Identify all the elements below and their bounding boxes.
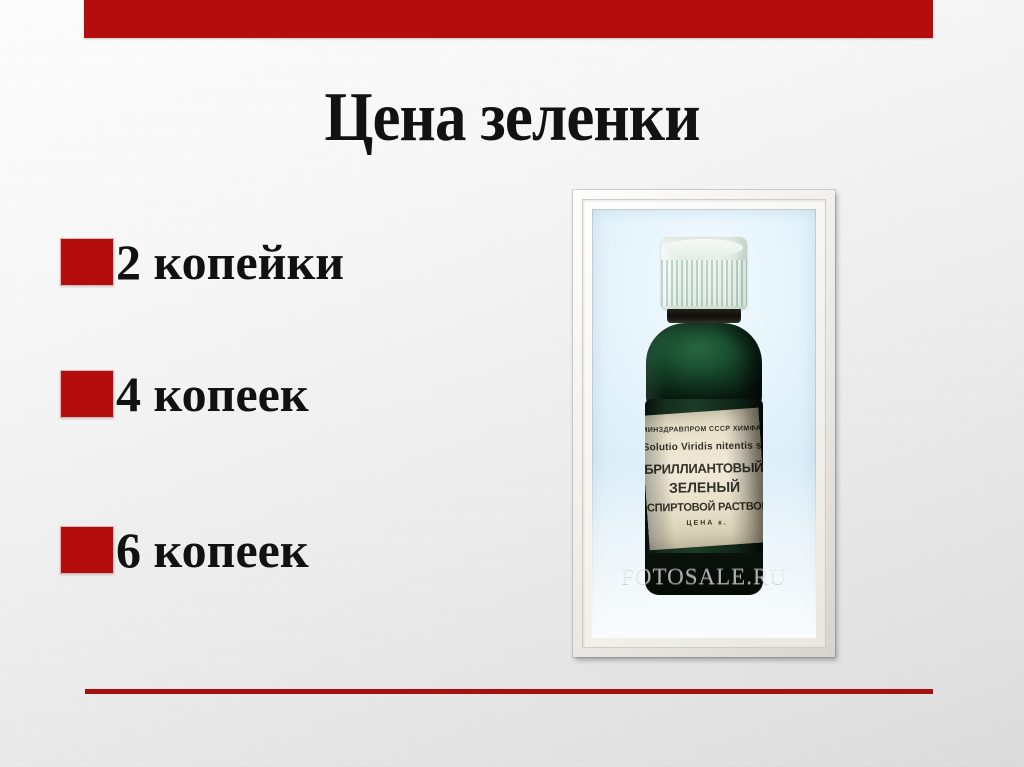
bottle-base (645, 553, 763, 595)
bottle-shoulder (646, 323, 762, 409)
bullet-list: 2 копейки 4 копеек 6 копеек (60, 224, 530, 588)
bottom-accent-rule (85, 689, 933, 694)
bottle-body: МИНЗДРАВПРОМ СССР ХИМФАРМЗАВОД Solutio V… (645, 399, 763, 595)
top-accent-bar (84, 0, 933, 38)
bottle-label: МИНЗДРАВПРОМ СССР ХИМФАРМЗАВОД Solutio V… (645, 408, 763, 551)
photo-image-brilliant-green-bottle: МИНЗДРАВПРОМ СССР ХИМФАРМЗАВОД Solutio V… (592, 209, 816, 638)
list-item[interactable]: 4 копеек (60, 356, 530, 432)
label-line-product-name: БРИЛЛИАНТОВЫЙ (645, 460, 762, 477)
cap-ribs (661, 260, 747, 306)
list-item[interactable]: 6 копеек (60, 512, 530, 588)
red-square-bullet-icon (60, 370, 114, 418)
label-line-manufacturer: МИНЗДРАВПРОМ СССР ХИМФАРМЗАВОД (645, 425, 760, 434)
bottle-cap (661, 237, 747, 309)
list-item-label: 2 копейки (116, 236, 344, 288)
label-line-solution: СПИРТОВОЙ РАСТВОР (647, 500, 763, 514)
red-square-bullet-icon (60, 238, 114, 286)
photo-mat: МИНЗДРАВПРОМ СССР ХИМФАРМЗАВОД Solutio V… (582, 199, 826, 648)
label-line-product-name-2: ЗЕЛЕНЫЙ (645, 478, 763, 496)
list-item-label: 4 копеек (116, 368, 309, 420)
cap-top-highlight (665, 239, 743, 257)
page-title: Цена зеленки (51, 78, 973, 158)
label-line-latin-name: Solutio Viridis nitentis spirituosa (645, 440, 761, 453)
slide: Цена зеленки 2 копейки 4 копеек 6 копеек (0, 0, 1024, 767)
label-line-price: ЦЕНА к. (648, 519, 763, 528)
list-item-label: 6 копеек (116, 524, 309, 576)
framed-photo: МИНЗДРАВПРОМ СССР ХИМФАРМЗАВОД Solutio V… (573, 190, 835, 657)
bottle-neck-ring (667, 307, 741, 323)
bottle-graphic: МИНЗДРАВПРОМ СССР ХИМФАРМЗАВОД Solutio V… (645, 237, 763, 595)
list-item[interactable]: 2 копейки (60, 224, 530, 300)
red-square-bullet-icon (60, 526, 114, 574)
